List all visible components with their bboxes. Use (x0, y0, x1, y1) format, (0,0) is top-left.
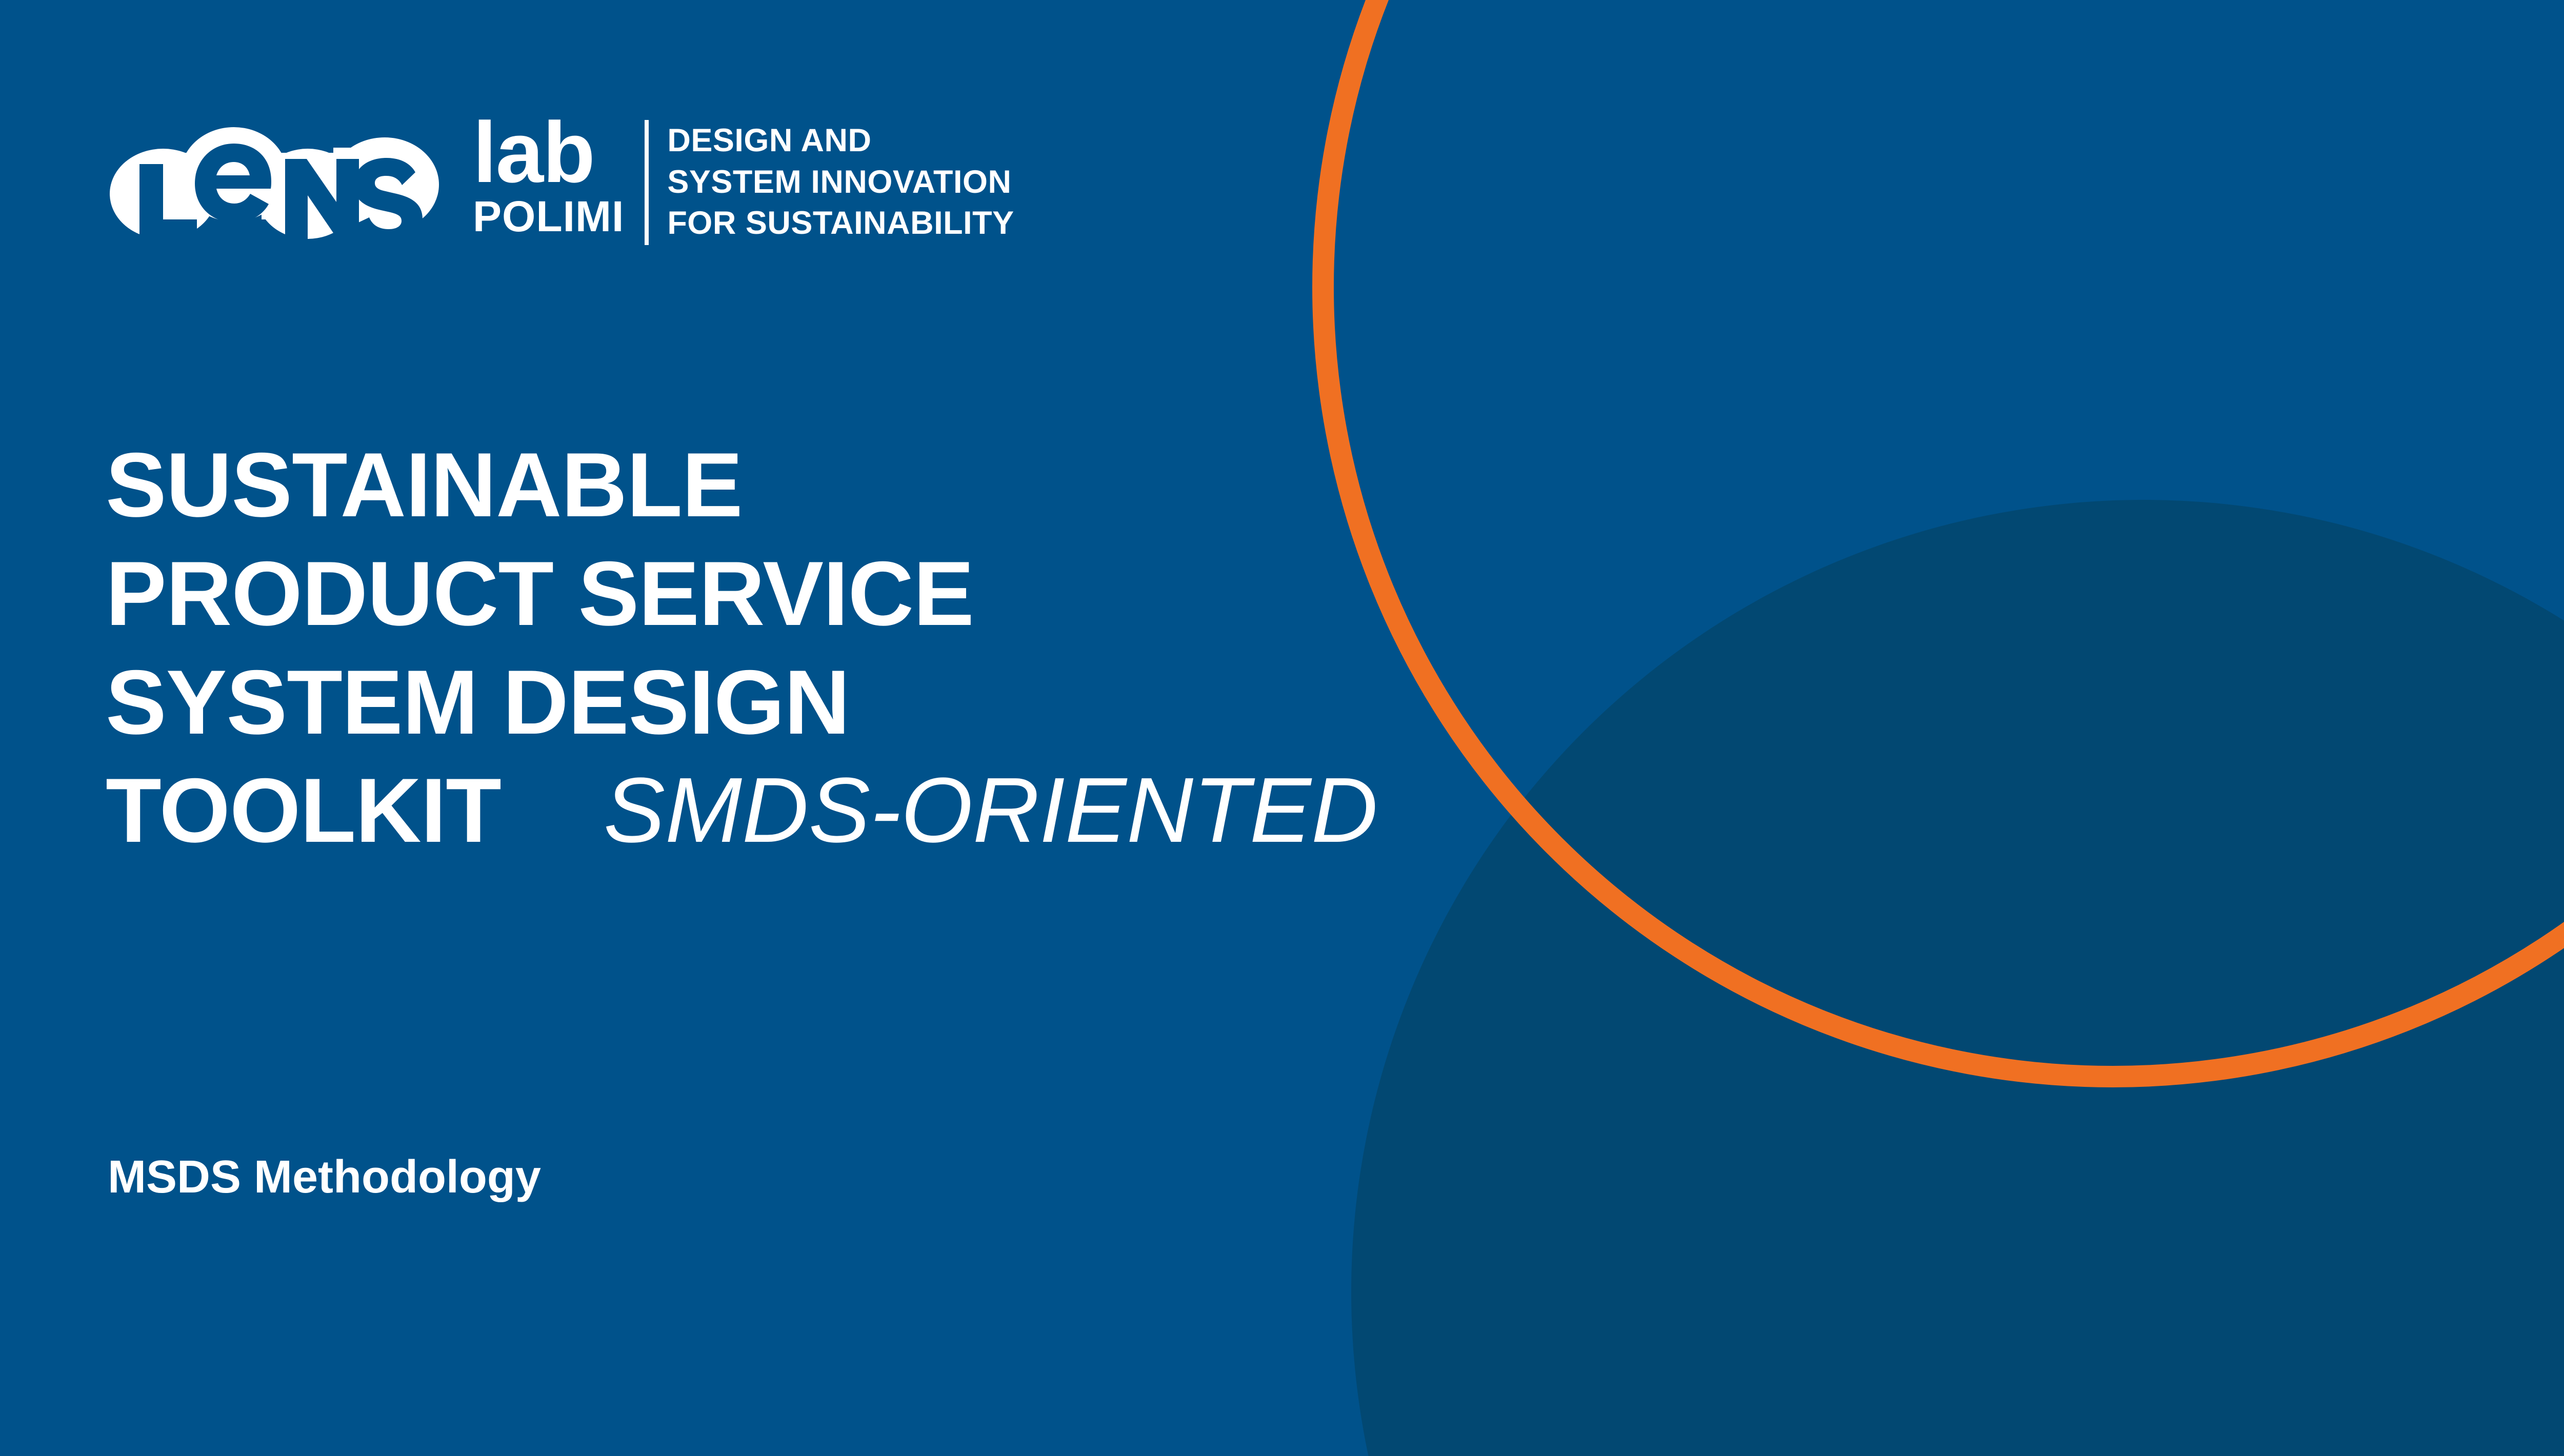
logo-vertical-divider (645, 120, 649, 245)
title-line-4-row: TOOLKIT SMDS-ORIENTED (106, 756, 1378, 865)
tagline-line-3: FOR SUSTAINABILITY (667, 203, 1014, 244)
slide-title: SUSTAINABLE PRODUCT SERVICE SYSTEM DESIG… (106, 431, 1378, 865)
presentation-slide: lab POLIMI DESIGN AND SYSTEM INNOVATION … (0, 0, 2564, 1456)
lab-label: lab (473, 118, 624, 187)
orange-circle-outline (1323, 0, 2564, 1077)
title-line-4: TOOLKIT (106, 756, 501, 865)
lab-polimi-block: lab POLIMI DESIGN AND SYSTEM INNOVATION … (473, 117, 1014, 249)
lens-wordmark-icon (108, 117, 451, 240)
slide-subtitle: MSDS Methodology (108, 1151, 541, 1204)
dark-blue-circle (1351, 500, 2564, 1456)
title-line-1: SUSTAINABLE (106, 431, 1378, 539)
tagline-line-2: SYSTEM INNOVATION (667, 161, 1014, 203)
title-line-2: PRODUCT SERVICE (106, 539, 1378, 648)
polimi-label: POLIMI (473, 194, 624, 239)
lab-polimi-text: lab POLIMI (473, 117, 624, 249)
logo-tagline: DESIGN AND SYSTEM INNOVATION FOR SUSTAIN… (667, 117, 1014, 249)
title-line-3: SYSTEM DESIGN (106, 648, 1378, 757)
lenslab-polimi-logo: lab POLIMI DESIGN AND SYSTEM INNOVATION … (108, 117, 1014, 249)
tagline-line-1: DESIGN AND (667, 120, 1014, 161)
title-variant-label: SMDS-ORIENTED (604, 757, 1378, 863)
